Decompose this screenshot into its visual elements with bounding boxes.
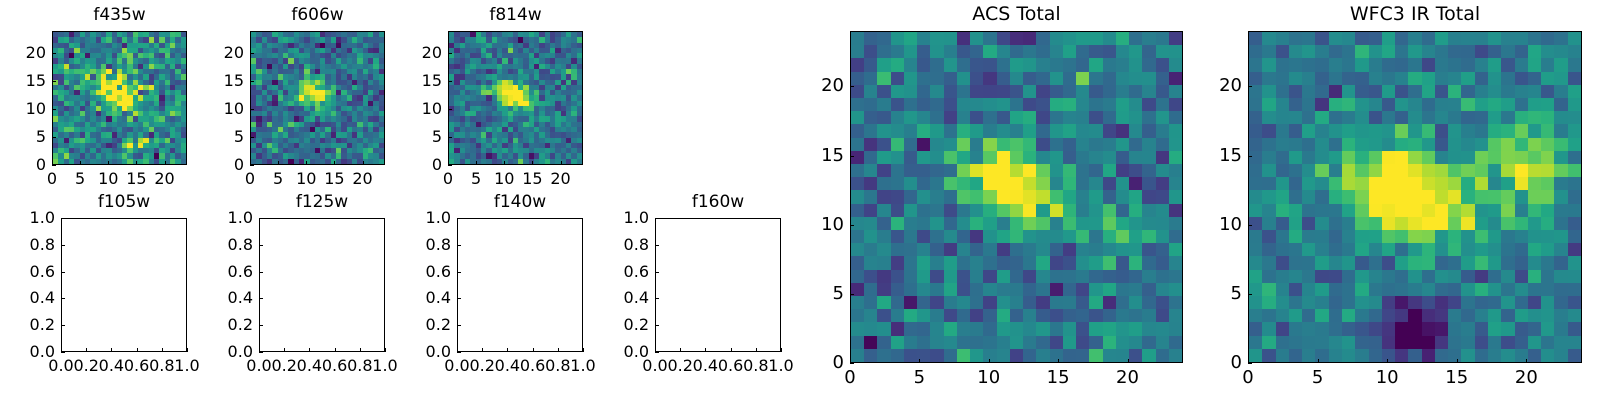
x-tick <box>533 348 534 352</box>
x-tick <box>137 348 138 352</box>
y-tick <box>52 109 56 110</box>
y-tick <box>61 298 65 299</box>
axes-acs-total <box>850 31 1183 363</box>
y-tick <box>1248 86 1252 87</box>
y-tick <box>655 352 659 353</box>
x-tick <box>385 348 386 352</box>
y-tick <box>448 53 452 54</box>
y-tick-label: 15 <box>6 73 46 89</box>
panel-title-f105w: f105w <box>61 194 187 211</box>
heatmap-f606w <box>251 32 384 164</box>
panel-wfc3-ir-total: WFC3 IR Total 0510152005101520 <box>1248 31 1582 363</box>
y-tick <box>448 165 452 166</box>
x-tick <box>111 348 112 352</box>
x-tick-label: 5 <box>1296 369 1340 387</box>
y-tick-label: 5 <box>6 129 46 145</box>
x-tick <box>80 161 81 165</box>
x-tick <box>1457 359 1458 363</box>
x-tick <box>558 348 559 352</box>
y-tick-label: 20 <box>1198 77 1242 95</box>
x-tick-label: 20 <box>145 171 185 187</box>
y-tick-label: 0.4 <box>15 290 55 306</box>
x-tick <box>561 161 562 165</box>
x-tick-label: 15 <box>1435 369 1479 387</box>
axes-f105w <box>61 218 187 352</box>
axes-f140w <box>457 218 583 352</box>
x-tick-label: 1.0 <box>167 358 207 374</box>
y-tick <box>457 352 461 353</box>
y-tick-label: 10 <box>1198 216 1242 234</box>
x-tick-label: 20 <box>343 171 383 187</box>
y-tick <box>448 109 452 110</box>
x-tick <box>781 348 782 352</box>
panel-title-f814w: f814w <box>448 7 583 24</box>
x-tick-label: 20 <box>541 171 581 187</box>
y-tick-label: 0.8 <box>609 237 649 253</box>
x-tick <box>476 161 477 165</box>
x-tick <box>108 161 109 165</box>
y-tick <box>850 86 854 87</box>
x-tick <box>335 348 336 352</box>
y-tick-label: 0.8 <box>213 237 253 253</box>
x-tick <box>507 348 508 352</box>
y-tick <box>259 298 263 299</box>
x-tick <box>705 348 706 352</box>
x-tick-label: 1.0 <box>761 358 801 374</box>
y-tick-label: 0.2 <box>15 317 55 333</box>
axes-f606w <box>250 31 385 165</box>
x-tick <box>583 348 584 352</box>
y-tick-label: 10 <box>800 216 844 234</box>
x-tick <box>504 161 505 165</box>
x-tick <box>1058 359 1059 363</box>
y-tick <box>850 156 854 157</box>
x-tick-label: 1.0 <box>563 358 603 374</box>
x-tick-label: 20 <box>1106 369 1150 387</box>
y-tick <box>259 352 263 353</box>
y-tick-label: 0.0 <box>609 344 649 360</box>
y-tick-label: 20 <box>6 45 46 61</box>
panel-acs-total: ACS Total 0510152005101520 <box>850 31 1183 363</box>
y-tick <box>259 272 263 273</box>
panel-f160w: f160w 0.00.20.40.60.81.00.00.20.40.60.81… <box>655 218 781 352</box>
y-tick <box>259 218 263 219</box>
y-tick-label: 0 <box>800 354 844 372</box>
y-tick-label: 0.2 <box>609 317 649 333</box>
y-tick <box>655 272 659 273</box>
panel-f606w: f606w 0510152005101520 <box>250 31 385 165</box>
y-tick <box>61 245 65 246</box>
y-tick <box>52 81 56 82</box>
heatmap-acs-total <box>851 32 1182 362</box>
y-tick-label: 5 <box>800 285 844 303</box>
x-tick <box>165 161 166 165</box>
x-tick <box>278 161 279 165</box>
y-tick <box>1248 294 1252 295</box>
y-tick-label: 0.6 <box>15 264 55 280</box>
y-tick <box>250 81 254 82</box>
axes-wfc3-ir-total <box>1248 31 1582 363</box>
x-tick-label: 20 <box>1504 369 1548 387</box>
y-tick-label: 0 <box>6 157 46 173</box>
axes-f435w <box>52 31 187 165</box>
x-tick <box>1318 359 1319 363</box>
y-tick-label: 20 <box>204 45 244 61</box>
axes-f125w <box>259 218 385 352</box>
y-tick-label: 0.8 <box>411 237 451 253</box>
y-tick-label: 15 <box>1198 147 1242 165</box>
x-tick <box>731 348 732 352</box>
figure-canvas: f435w 0510152005101520 f606w 05101520051… <box>0 0 1600 400</box>
y-tick-label: 5 <box>1198 285 1242 303</box>
y-tick <box>448 137 452 138</box>
x-tick <box>309 348 310 352</box>
heatmap-f814w <box>449 32 582 164</box>
y-tick-label: 0 <box>1198 354 1242 372</box>
y-tick <box>457 272 461 273</box>
y-tick <box>850 294 854 295</box>
x-tick <box>187 348 188 352</box>
x-tick <box>162 348 163 352</box>
x-tick-label: 5 <box>897 369 941 387</box>
panel-title-f606w: f606w <box>250 7 385 24</box>
y-tick-label: 0 <box>204 157 244 173</box>
y-tick <box>61 218 65 219</box>
y-tick-label: 5 <box>402 129 442 145</box>
y-tick <box>259 245 263 246</box>
panel-f435w: f435w 0510152005101520 <box>52 31 187 165</box>
y-tick-label: 1.0 <box>15 210 55 226</box>
y-tick-label: 15 <box>402 73 442 89</box>
y-tick <box>250 137 254 138</box>
x-tick <box>284 348 285 352</box>
y-tick <box>850 363 854 364</box>
y-tick-label: 15 <box>800 147 844 165</box>
y-tick-label: 0.4 <box>609 290 649 306</box>
y-tick-label: 0.0 <box>15 344 55 360</box>
y-tick-label: 5 <box>204 129 244 145</box>
y-tick-label: 0.6 <box>213 264 253 280</box>
y-tick <box>457 218 461 219</box>
y-tick-label: 0.2 <box>411 317 451 333</box>
y-tick <box>655 245 659 246</box>
heatmap-wfc3-ir-total <box>1249 32 1581 362</box>
y-tick-label: 0.0 <box>411 344 451 360</box>
y-tick-label: 0.0 <box>213 344 253 360</box>
y-tick <box>61 272 65 273</box>
x-tick-label: 10 <box>967 369 1011 387</box>
y-tick-label: 20 <box>402 45 442 61</box>
x-tick <box>1387 359 1388 363</box>
y-tick-label: 10 <box>204 101 244 117</box>
y-tick <box>457 245 461 246</box>
y-tick-label: 1.0 <box>411 210 451 226</box>
y-tick <box>250 53 254 54</box>
x-tick <box>86 348 87 352</box>
y-tick-label: 0.6 <box>411 264 451 280</box>
y-tick-label: 15 <box>204 73 244 89</box>
y-tick <box>1248 225 1252 226</box>
y-tick-label: 1.0 <box>213 210 253 226</box>
x-tick-label: 15 <box>1036 369 1080 387</box>
y-tick <box>61 352 65 353</box>
y-tick <box>61 325 65 326</box>
y-tick-label: 0.4 <box>411 290 451 306</box>
y-tick <box>259 325 263 326</box>
x-tick-label: 1.0 <box>365 358 405 374</box>
y-tick-label: 1.0 <box>609 210 649 226</box>
y-tick <box>850 225 854 226</box>
panel-title-f125w: f125w <box>259 194 385 211</box>
panel-title-f435w: f435w <box>52 7 187 24</box>
x-tick <box>680 348 681 352</box>
y-tick <box>457 325 461 326</box>
y-tick-label: 0.8 <box>15 237 55 253</box>
panel-title-f160w: f160w <box>655 194 781 211</box>
y-tick-label: 20 <box>800 77 844 95</box>
y-tick <box>52 165 56 166</box>
y-tick-label: 0.6 <box>609 264 649 280</box>
y-tick <box>448 81 452 82</box>
y-tick <box>1248 156 1252 157</box>
y-tick <box>250 165 254 166</box>
y-tick <box>52 53 56 54</box>
y-tick-label: 10 <box>402 101 442 117</box>
panel-f140w: f140w 0.00.20.40.60.81.00.00.20.40.60.81… <box>457 218 583 352</box>
x-tick <box>1128 359 1129 363</box>
x-tick <box>756 348 757 352</box>
x-tick <box>1526 359 1527 363</box>
y-tick-label: 10 <box>6 101 46 117</box>
y-tick-label: 0.2 <box>213 317 253 333</box>
x-tick <box>532 161 533 165</box>
panel-f105w: f105w 0.00.20.40.60.81.00.00.20.40.60.81… <box>61 218 187 352</box>
x-tick <box>989 359 990 363</box>
panel-f814w: f814w 0510152005101520 <box>448 31 583 165</box>
x-tick <box>136 161 137 165</box>
x-tick <box>306 161 307 165</box>
y-tick <box>1248 363 1252 364</box>
panel-f125w: f125w 0.00.20.40.60.81.00.00.20.40.60.81… <box>259 218 385 352</box>
y-tick <box>655 218 659 219</box>
y-tick-label: 0.4 <box>213 290 253 306</box>
y-tick <box>250 109 254 110</box>
panel-title-f140w: f140w <box>457 194 583 211</box>
x-tick <box>363 161 364 165</box>
x-tick <box>334 161 335 165</box>
x-tick <box>360 348 361 352</box>
axes-f160w <box>655 218 781 352</box>
y-tick <box>457 298 461 299</box>
y-tick-label: 0 <box>402 157 442 173</box>
panel-title-wfc3-ir-total: WFC3 IR Total <box>1248 5 1582 24</box>
y-tick <box>655 325 659 326</box>
panel-title-acs-total: ACS Total <box>850 5 1183 24</box>
heatmap-f435w <box>53 32 186 164</box>
x-tick <box>919 359 920 363</box>
x-tick-label: 10 <box>1365 369 1409 387</box>
y-tick <box>52 137 56 138</box>
y-tick <box>655 298 659 299</box>
x-tick <box>482 348 483 352</box>
axes-f814w <box>448 31 583 165</box>
